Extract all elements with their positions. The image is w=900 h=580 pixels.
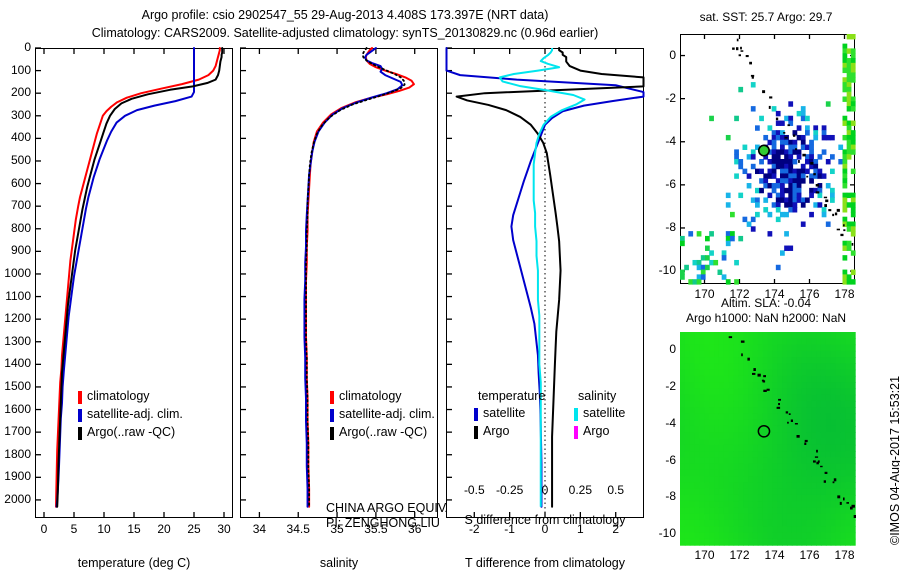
latitude-tick-label: -8 (648, 489, 676, 503)
longitude-tick-label: 170 (685, 548, 725, 562)
longitude-tick-label: 176 (790, 548, 830, 562)
sla-map-plot (0, 0, 900, 580)
latitude-tick-label: -2 (648, 379, 676, 393)
longitude-tick-label: 178 (825, 548, 865, 562)
latitude-tick-label: -4 (648, 416, 676, 430)
latitude-tick-label: 0 (648, 342, 676, 356)
longitude-tick-label: 172 (720, 548, 760, 562)
longitude-tick-label: 174 (755, 548, 795, 562)
latitude-tick-label: -6 (648, 453, 676, 467)
imos-credit: ©IMOS 04-Aug-2017 15:53:21 (888, 376, 900, 545)
latitude-tick-label: -10 (648, 526, 676, 540)
